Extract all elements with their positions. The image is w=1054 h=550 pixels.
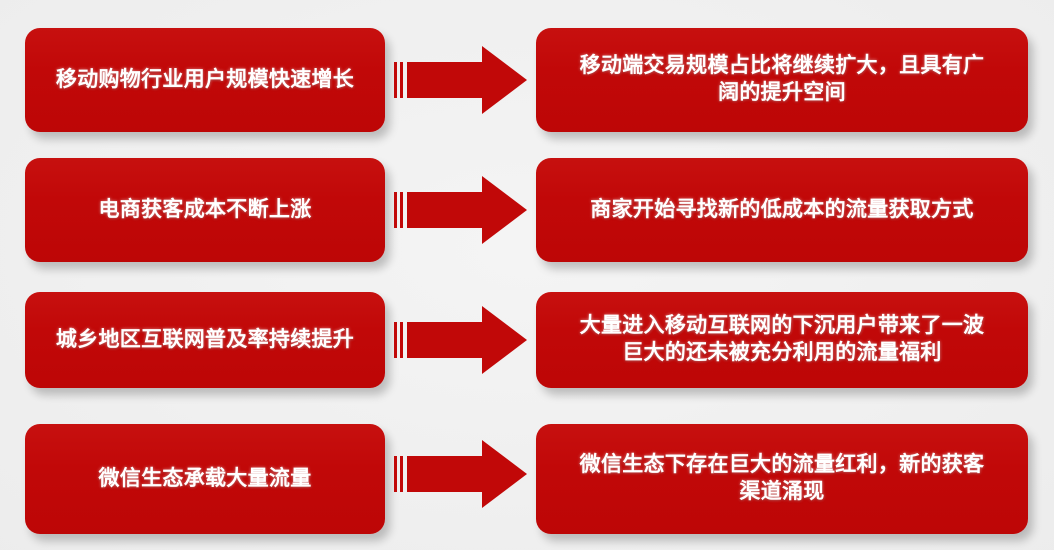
right-arrow-icon-2 [394,176,530,244]
cause-box-1-label: 移动购物行业用户规模快速增长 [56,67,354,94]
effect-box-2-label: 商家开始寻找新的低成本的流量获取方式 [590,197,973,224]
effect-box-3[interactable]: 大量进入移动互联网的下沉用户带来了一波 巨大的还未被充分利用的流量福利 [536,292,1028,388]
right-arrow-icon-3 [394,306,530,374]
cause-box-3[interactable]: 城乡地区互联网普及率持续提升 [25,292,385,388]
cause-effect-diagram: 移动购物行业用户规模快速增长 移动端交易规模占比将继续扩大，且具有广 阔的提升空… [0,0,1054,550]
effect-box-2[interactable]: 商家开始寻找新的低成本的流量获取方式 [536,158,1028,262]
effect-box-1[interactable]: 移动端交易规模占比将继续扩大，且具有广 阔的提升空间 [536,28,1028,132]
cause-box-2[interactable]: 电商获客成本不断上涨 [25,158,385,262]
effect-box-3-label: 大量进入移动互联网的下沉用户带来了一波 巨大的还未被充分利用的流量福利 [580,313,985,367]
right-arrow-icon-1 [394,46,530,114]
effect-box-4[interactable]: 微信生态下存在巨大的流量红利，新的获客 渠道涌现 [536,424,1028,534]
cause-box-4-label: 微信生态承载大量流量 [99,466,312,493]
cause-box-1[interactable]: 移动购物行业用户规模快速增长 [25,28,385,132]
cause-box-3-label: 城乡地区互联网普及率持续提升 [56,327,354,354]
effect-box-4-label: 微信生态下存在巨大的流量红利，新的获客 渠道涌现 [580,452,985,506]
cause-box-2-label: 电商获客成本不断上涨 [99,197,312,224]
effect-box-1-label: 移动端交易规模占比将继续扩大，且具有广 阔的提升空间 [580,53,985,107]
cause-box-4[interactable]: 微信生态承载大量流量 [25,424,385,534]
right-arrow-icon-4 [394,440,530,508]
